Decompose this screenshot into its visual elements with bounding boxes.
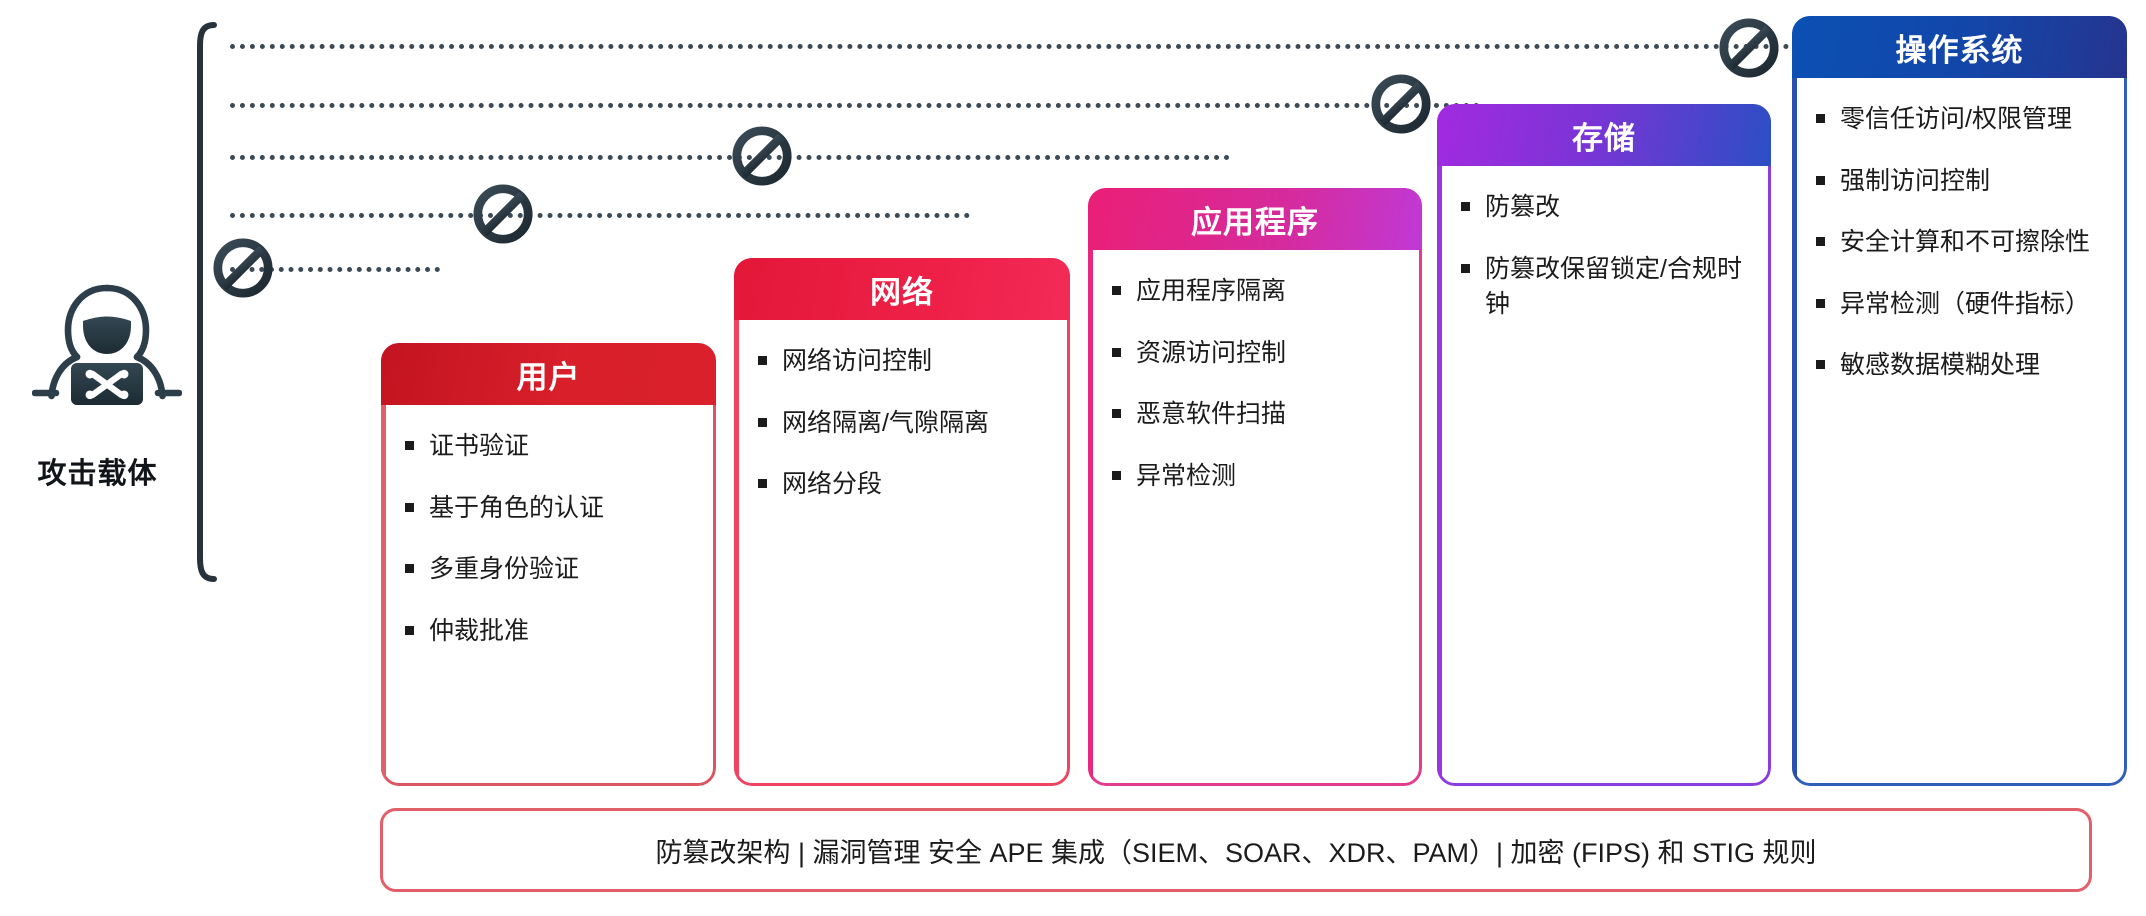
- layer-card-network[interactable]: 网络 网络访问控制 网络隔离/气隙隔离 网络分段: [734, 258, 1070, 786]
- hacker-hoodie-laptop-icon: [32, 270, 182, 420]
- attacker-label: 攻击载体: [0, 450, 195, 492]
- card-accent-edge-application: [1088, 250, 1093, 786]
- foundation-capabilities-bar: 防篡改架构 | 漏洞管理 安全 APE 集成（SIEM、SOAR、XDR、PAM…: [380, 808, 2092, 892]
- layer-card-application[interactable]: 应用程序 应用程序隔离 资源访问控制 恶意软件扫描 异常检测: [1088, 188, 1422, 786]
- layer-items-user: 证书验证 基于角色的认证 多重身份验证 仲裁批准: [381, 405, 716, 685]
- list-item: 资源访问控制: [1110, 336, 1404, 372]
- list-item: 网络隔离/气隙隔离: [756, 406, 1052, 442]
- no-entry-icon-user: [212, 237, 274, 299]
- layer-title-os: 操作系统: [1792, 16, 2127, 78]
- attack-path-network: [230, 213, 970, 218]
- layer-card-storage[interactable]: 存储 防篡改 防篡改保留锁定/合规时钟: [1437, 104, 1771, 786]
- list-item: 应用程序隔离: [1110, 274, 1404, 310]
- layer-items-os: 零信任访问/权限管理 强制访问控制 安全计算和不可擦除性 异常检测（硬件指标） …: [1792, 78, 2127, 420]
- layer-card-os[interactable]: 操作系统 零信任访问/权限管理 强制访问控制 安全计算和不可擦除性 异常检测（硬…: [1792, 16, 2127, 786]
- list-item: 仲裁批准: [403, 614, 698, 650]
- layer-title-storage: 存储: [1437, 104, 1771, 166]
- card-accent-edge-storage: [1437, 166, 1442, 786]
- attacker-figure: [22, 270, 192, 460]
- foundation-capabilities-text: 防篡改架构 | 漏洞管理 安全 APE 集成（SIEM、SOAR、XDR、PAM…: [655, 831, 1816, 870]
- layer-title-application: 应用程序: [1088, 188, 1422, 250]
- attack-path-os: [230, 44, 1790, 49]
- attack-surface-bracket: [190, 22, 226, 582]
- no-entry-icon-application: [731, 125, 793, 187]
- list-item: 多重身份验证: [403, 552, 698, 588]
- layer-card-user[interactable]: 用户 证书验证 基于角色的认证 多重身份验证 仲裁批准: [381, 343, 716, 786]
- list-item: 网络分段: [756, 467, 1052, 503]
- list-item: 防篡改保留锁定/合规时钟: [1459, 252, 1753, 323]
- attack-path-application: [230, 155, 1230, 160]
- card-accent-edge-network: [734, 320, 739, 786]
- list-item: 异常检测: [1110, 459, 1404, 495]
- list-item: 敏感数据模糊处理: [1814, 348, 2109, 384]
- no-entry-icon-storage: [1370, 73, 1432, 135]
- list-item: 防篡改: [1459, 190, 1753, 226]
- list-item: 强制访问控制: [1814, 164, 2109, 200]
- no-entry-icon-os: [1718, 17, 1780, 79]
- layer-items-network: 网络访问控制 网络隔离/气隙隔离 网络分段: [734, 320, 1070, 539]
- list-item: 零信任访问/权限管理: [1814, 102, 2109, 138]
- list-item: 恶意软件扫描: [1110, 397, 1404, 433]
- list-item: 网络访问控制: [756, 344, 1052, 380]
- no-entry-icon-network: [472, 183, 534, 245]
- card-accent-edge-os: [1792, 78, 1797, 786]
- layer-title-user: 用户: [381, 343, 716, 405]
- attack-path-storage: [230, 103, 1480, 108]
- list-item: 基于角色的认证: [403, 491, 698, 527]
- layer-title-network: 网络: [734, 258, 1070, 320]
- card-accent-edge-user: [381, 405, 386, 786]
- diagram-canvas: 攻击载体 用户 证书验证: [0, 0, 2146, 916]
- layer-items-storage: 防篡改 防篡改保留锁定/合规时钟: [1437, 166, 1771, 359]
- list-item: 证书验证: [403, 429, 698, 465]
- list-item: 异常检测（硬件指标）: [1814, 287, 2109, 323]
- list-item: 安全计算和不可擦除性: [1814, 225, 2109, 261]
- layer-items-application: 应用程序隔离 资源访问控制 恶意软件扫描 异常检测: [1088, 250, 1422, 530]
